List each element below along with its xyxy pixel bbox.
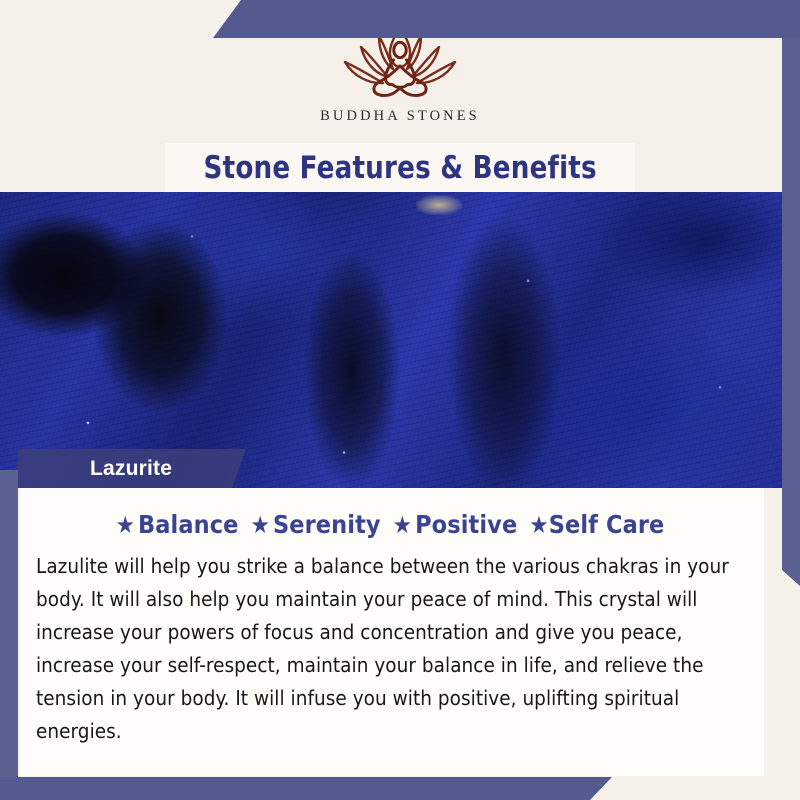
benefits-list: ★Balance ★Serenity ★Positive ★Self Care	[20, 510, 764, 539]
star-icon: ★	[250, 511, 269, 539]
stone-photo-specks	[0, 192, 800, 488]
benefit-label-self-care: Self Care	[549, 510, 665, 539]
stone-description: Lazulite will help you strike a balance …	[36, 550, 748, 748]
bottom-accent-band	[0, 777, 612, 800]
stone-info-poster: BUDDHA STONES Stone Features & Benefits …	[0, 0, 800, 800]
star-icon: ★	[393, 511, 412, 539]
stone-name-tag: Lazurite	[18, 449, 246, 488]
stone-photo-highlight	[416, 195, 462, 215]
stone-photo	[0, 192, 800, 488]
brand-name: BUDDHA STONES	[320, 108, 480, 125]
benefit-label-balance: Balance	[138, 510, 239, 539]
page-title: Stone Features & Benefits	[203, 150, 596, 186]
benefit-label-serenity: Serenity	[273, 510, 381, 539]
star-icon: ★	[529, 511, 548, 539]
left-accent-band	[0, 470, 18, 800]
benefit-label-positive: Positive	[415, 510, 517, 539]
page-title-plate: Stone Features & Benefits	[165, 143, 635, 192]
right-accent-band	[782, 38, 800, 586]
star-icon: ★	[116, 511, 135, 539]
top-accent-band	[213, 0, 800, 38]
content-card: ★Balance ★Serenity ★Positive ★Self Care …	[20, 488, 764, 776]
stone-name: Lazurite	[90, 457, 172, 481]
